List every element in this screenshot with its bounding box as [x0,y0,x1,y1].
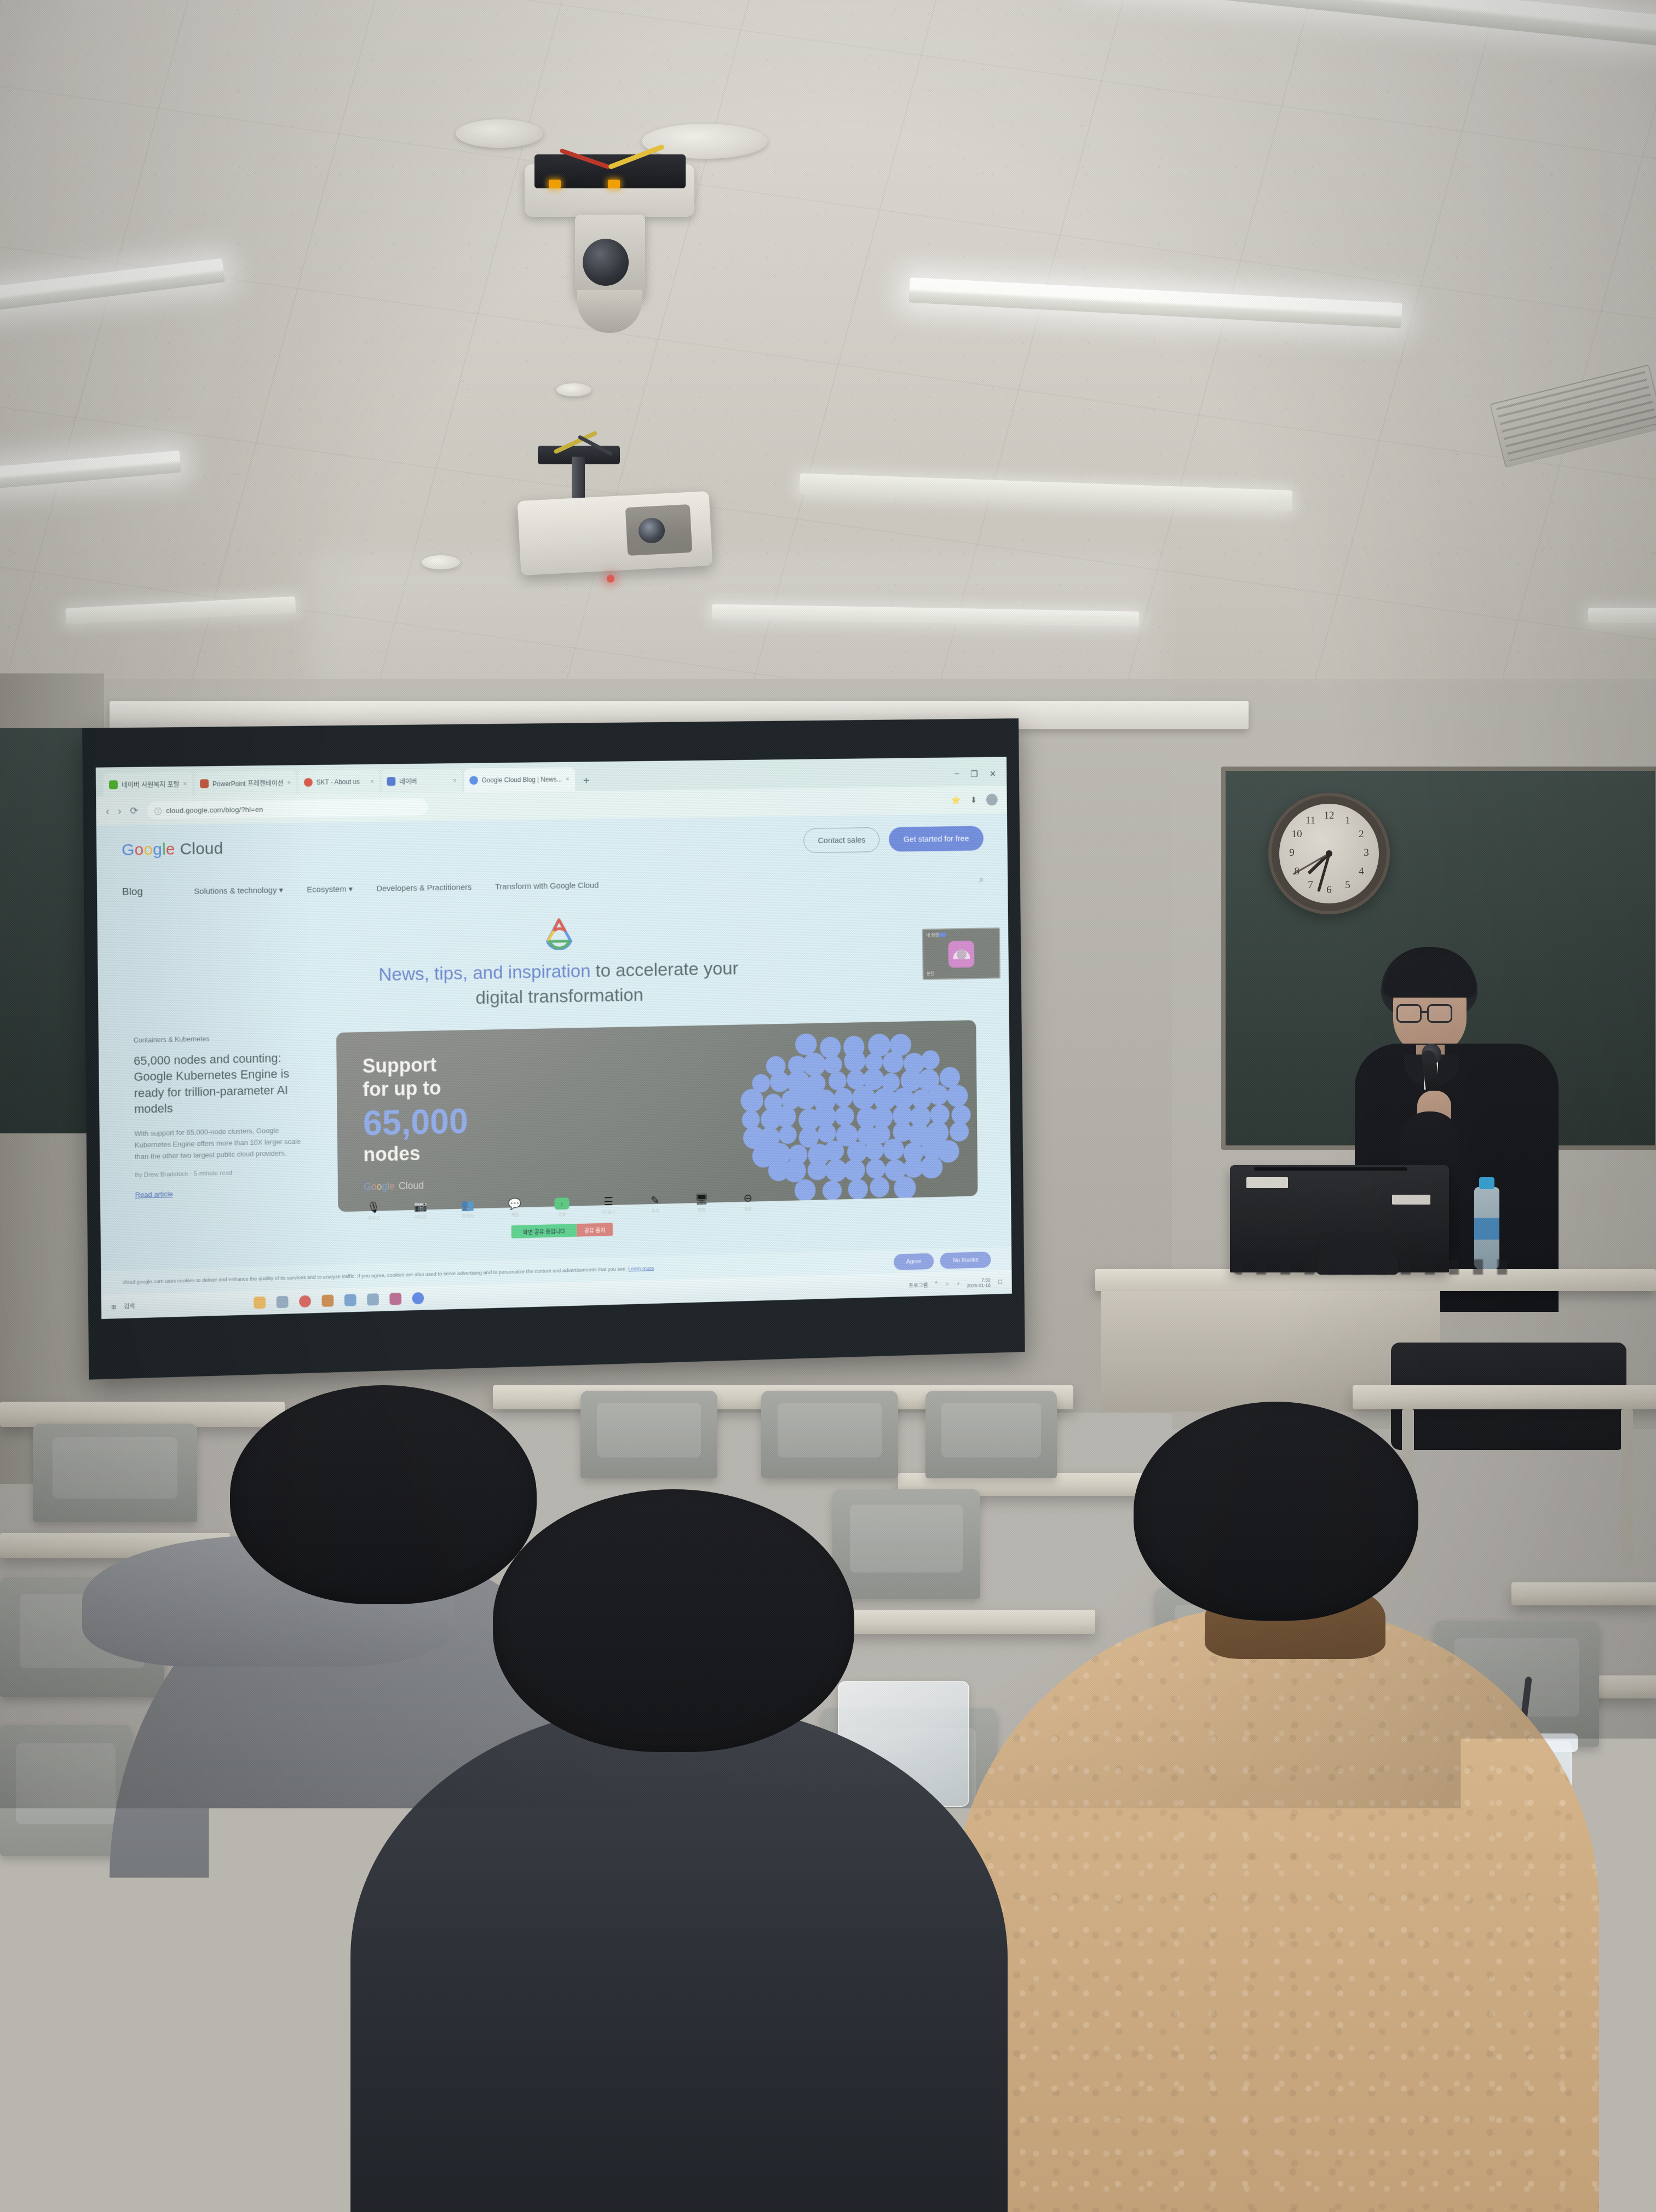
bottle-label [1474,1218,1499,1240]
projector-indicator-light [607,575,614,583]
back-icon[interactable]: ‹ [106,805,109,817]
node-dot [741,1089,763,1113]
ceiling-light [1588,608,1656,623]
clock-numeral: 11 [1304,815,1317,827]
student-chair [832,1489,980,1599]
node-dot [920,1156,942,1179]
browser-tab[interactable]: 네이버 × [382,769,462,793]
presenter-hair-front [1383,959,1476,998]
clock-numeral: 6 [1323,884,1336,896]
node-dot [775,1106,796,1128]
node-dot [894,1176,916,1200]
node-dot [818,1124,836,1143]
laptop-vent [1254,1167,1407,1171]
tray-volume-icon[interactable]: ♪ [957,1281,959,1287]
logo-letter: o [134,840,143,859]
student-chair [761,1391,898,1478]
toolbar-label: 더 보기 [602,1209,616,1216]
node-dot [883,1139,904,1161]
article-summary: With support for 65,000-node clusters, G… [134,1124,314,1162]
search-icon[interactable]: ⌕ [979,874,984,885]
clock-numeral: 4 [1355,866,1368,878]
toolbar-participants-button[interactable]: 👥 참여자 [453,1200,482,1219]
taskbar-search[interactable]: 검색 [124,1301,135,1311]
taskbar-system-tray: 프로그램 ^ ☼ ♪ 7:32 2025-01-16 ☐ [909,1277,1003,1291]
browser-tab[interactable]: SKT - About us × [298,770,380,794]
glasses-bridge [1422,1011,1428,1013]
logo-letter: e [166,840,175,859]
toolbar-label: 공유 [558,1212,566,1218]
tab-close-icon[interactable]: × [183,780,187,788]
taskbar-left: ⊞ 검색 [111,1301,135,1311]
cookie-agree-button[interactable]: Agree [894,1253,934,1270]
laptop-sticker [1392,1195,1430,1205]
toolbar-label: 참여자 [462,1213,474,1219]
node-dot [824,1055,842,1074]
clock-numeral: 7 [1304,879,1317,891]
lecture-hall-scene: 네이버 사원복지 포털 × PowerPoint 프레젠테이션 × SKT - … [0,0,1656,2208]
cookie-buttons: Agree No thanks [894,1252,991,1270]
card-line1: Support [363,1051,534,1078]
annotate-icon: ✎ [651,1195,659,1206]
student-chair [925,1391,1057,1478]
drive-icon[interactable] [344,1294,357,1306]
clock-face: 121234567891011 [1279,804,1379,903]
audience-member-left-head [230,1385,537,1604]
tab-label: PowerPoint 프레젠테이션 [212,778,284,788]
clock-numeral: 10 [1290,828,1303,840]
node-dot [779,1125,797,1144]
chrome-icon[interactable] [299,1295,311,1307]
microphone-icon: 🎙 [367,1202,381,1213]
glasses-right-lens [1427,1004,1452,1023]
glasses-left-lens [1396,1004,1422,1023]
projector-screen: 네이버 사원복지 포털 × PowerPoint 프레젠테이션 × SKT - … [82,718,1025,1380]
clock-numeral: 5 [1341,879,1354,891]
logo-letter: g [153,840,162,859]
logo-letter: G [364,1181,371,1192]
card-line3: nodes [363,1139,534,1166]
tile-status-indicator [939,932,946,937]
tray-network-icon[interactable]: ☼ [945,1281,950,1287]
student-desk [1511,1582,1656,1605]
chat-icon: 💬 [508,1199,521,1209]
stop-sharing-button[interactable]: 공유 중지 [577,1223,613,1236]
node-dot [848,1179,869,1200]
clock-numeral: 12 [1323,810,1336,822]
camera-lens [583,239,629,286]
laptop-sticker [1246,1177,1288,1188]
hero-line2: digital transformation [475,984,643,1008]
ceiling-speaker [422,555,460,569]
share-screen-icon: ↑ [554,1197,569,1209]
nav-item-transform[interactable]: Transform with Google Cloud [495,880,599,891]
node-dot [823,1180,842,1201]
tray-chevron-icon[interactable]: ^ [935,1281,938,1287]
tab-favicon [387,777,395,786]
node-dot [833,1087,853,1108]
card-text: Support for up to 65,000 nodes [363,1051,535,1166]
hero-accent-text: News, tips, and inspiration [378,961,591,985]
browser-tab[interactable]: PowerPoint 프레젠테이션 × [194,770,296,796]
logo-letter: o [371,1181,377,1192]
fleece-texture [953,1604,1599,2212]
toolbar-label: 화면 [698,1207,705,1213]
card-line2: for up to [363,1074,534,1101]
clock-date: 2025-01-16 [967,1282,991,1288]
nav-item-developers[interactable]: Developers & Practitioners [376,883,472,893]
cookie-decline-button[interactable]: No thanks [940,1252,991,1269]
toolbar-annotate-button[interactable]: ✎ 주석 [641,1195,669,1215]
clock-center-pin [1326,850,1332,857]
google-cloud-blog-page: GoogleCloud Contact sales Get started fo… [96,813,1012,1319]
camera-led [608,180,620,188]
node-dot [950,1121,969,1142]
desk-cables [1232,1259,1517,1275]
toolbar-share-button[interactable]: ↑ 공유 [548,1197,577,1218]
logo-letter: e [389,1180,395,1191]
reload-icon[interactable]: ⟳ [130,805,138,816]
node-dot [928,1085,948,1105]
logo-letter: o [143,840,153,859]
browser-tab-active[interactable]: Google Cloud Blog | News... × [464,767,574,792]
url-input[interactable]: ⓘ cloud.google.com/blog/?hl=en [147,798,428,819]
header-actions: Contact sales Get started for free [803,826,984,853]
node-dot [853,1086,876,1109]
tab-close-icon[interactable]: × [566,775,570,783]
camera-led [549,180,561,188]
google-cloud-mark-icon [542,916,576,950]
start-button-icon[interactable]: ⊞ [111,1303,116,1310]
ceiling-speaker [456,119,543,148]
article-category[interactable]: Containers & Kubernetes [134,1033,313,1044]
article-byline: By Drew Bradstock · 5-minute read [135,1168,314,1179]
explorer-icon[interactable] [277,1296,289,1308]
ceiling-speaker [642,124,768,159]
tab-favicon [469,776,478,785]
zoom-icon[interactable] [412,1292,424,1304]
avatar [948,941,974,968]
hero-section: News, tips, and inspiration to accelerat… [97,895,1009,1023]
bottle-cap [1479,1177,1494,1189]
node-dot [795,1033,817,1055]
toolbar-more-button[interactable]: ☰ 더 보기 [594,1196,623,1216]
audience-member-right-head [1134,1402,1418,1621]
node-dot [808,1160,827,1180]
tab-label: SKT - About us [317,778,360,786]
browser-tab[interactable]: 네이버 사원복지 포털 × [104,772,193,797]
logo-suffix: Cloud [399,1180,424,1191]
student-desk [1353,1385,1656,1409]
screen-share-status-bar: 화면 공유 중입니다 공유 중지 [511,1223,613,1238]
audience-member-center-body [350,1703,1008,2212]
wall-clock: 121234567891011 [1268,793,1390,914]
cookie-learn-more-link[interactable]: Learn more [628,1265,654,1272]
toolbar-label: 채팅 [511,1212,519,1218]
toolbar-screen-button[interactable]: 🖥 화면 [687,1194,716,1214]
more-options-icon: ☰ [603,1196,613,1207]
avatar-head [956,949,966,959]
contact-sales-button[interactable]: Contact sales [803,827,879,853]
node-dot [947,1085,968,1107]
tab-close-icon[interactable]: × [453,777,457,785]
sharing-status: 화면 공유 중입니다 [511,1224,577,1239]
toolbar-label: 주석 [651,1208,659,1214]
toolbar-chat-button[interactable]: 💬 채팅 [501,1199,530,1218]
node-dot [824,1140,844,1161]
article-title[interactable]: 65,000 nodes and counting: Google Kubern… [134,1050,313,1117]
downloads-icon[interactable]: ⬇ [970,795,977,805]
toolbar-label: 비디오 [415,1214,427,1220]
notifications-icon[interactable]: ☐ [998,1279,1003,1285]
tab-close-icon[interactable]: × [370,778,374,786]
tray-program-label[interactable]: 프로그램 [909,1280,928,1289]
featured-article-card[interactable]: Support for up to 65,000 nodes GoogleClo… [336,1020,978,1212]
tab-label: 네이버 [399,776,417,786]
screen-icon: 🖥 [695,1194,709,1205]
card-google-cloud-logo: GoogleCloud [364,1180,424,1193]
node-dot [795,1179,816,1202]
profile-avatar[interactable] [986,794,998,806]
logo-letter: o [377,1181,382,1192]
tab-label: 네이버 사원복지 포털 [122,779,180,789]
node-dot [835,1106,854,1126]
maximize-icon[interactable]: ❐ [970,769,978,780]
window-controls: – ❐ ✕ [944,769,1007,787]
toolbar-mic-button[interactable]: 🎙 마이크 [359,1202,388,1222]
browser-toolbar-right: ⭐ ⬇ [951,794,998,807]
node-dot [883,1051,904,1073]
slack-icon[interactable] [389,1293,401,1305]
minimize-icon[interactable]: – [955,769,959,780]
stop-sharing-text: 공유 중지 [584,1225,606,1234]
desk-leg [1621,1409,1633,1568]
projected-browser-window: 네이버 사원복지 포털 × PowerPoint 프레젠테이션 × SKT - … [96,757,1012,1319]
node-dot [865,1140,884,1160]
node-dot [844,1050,865,1073]
nav-item-ecosystem[interactable]: Ecosystem ▾ [307,884,353,895]
toolbar-leave-button[interactable]: ⊖ 종료 [734,1193,762,1212]
node-dot [802,1052,825,1076]
toolbar-label: 마이크 [367,1215,380,1221]
word-icon[interactable] [321,1294,334,1306]
get-started-button[interactable]: Get started for free [889,826,984,851]
node-dot [870,1177,890,1197]
google-cloud-logo[interactable]: GoogleCloud [122,839,223,860]
student-chair [33,1424,197,1522]
tab-favicon [200,779,209,788]
participants-icon: 👥 [461,1200,475,1211]
toolbar-label: 종료 [744,1206,752,1212]
toolbar-camera-button[interactable]: 📷 비디오 [406,1201,435,1220]
clock-numeral: 8 [1290,866,1303,878]
tab-close-icon[interactable]: × [287,779,291,786]
tab-favicon [109,780,118,789]
leave-call-icon: ⊖ [744,1193,752,1204]
node-dot [921,1050,940,1069]
tile-participant-name: 본인 [927,971,934,977]
hero-rest-text: to accelerate your [590,958,738,981]
node-dot [866,1159,885,1179]
node-cluster-graphic [744,1031,965,1196]
sharing-status-text: 화면 공유 중입니다 [523,1226,565,1236]
url-text: cloud.google.com/blog/?hl=en [166,805,263,814]
taskbar-clock[interactable]: 7:32 2025-01-16 [967,1277,991,1288]
student-chair [580,1391,717,1478]
audience-member-right-body [953,1604,1599,2212]
clock-numeral: 3 [1360,847,1373,859]
camera-icon: 📷 [414,1201,428,1212]
notes-icon[interactable] [367,1293,379,1305]
node-dot [937,1140,959,1163]
nav-item-solutions[interactable]: Solutions & technology ▾ [194,885,283,896]
tile-corner-tag: 내 화면 [926,932,939,938]
node-dot [844,1159,865,1182]
ceiling-speaker [556,383,591,396]
clock-numeral: 2 [1355,828,1368,840]
clock-numeral: 1 [1341,815,1354,827]
clock-time: 7:32 [981,1277,991,1283]
featured-article: Containers & Kubernetes 65,000 nodes and… [134,1033,314,1217]
tab-favicon [304,778,313,787]
video-call-participant-tile[interactable]: 내 화면 본인 [922,928,1001,980]
card-big-number: 65,000 [363,1101,535,1143]
node-dot [783,1159,806,1183]
bookmark-icon[interactable]: ⭐ [951,795,961,805]
forward-icon[interactable]: › [118,805,121,817]
read-article-link[interactable]: Read article [135,1186,314,1199]
featured-content: Containers & Kubernetes 65,000 nodes and… [99,1006,1011,1218]
site-info-icon[interactable]: ⓘ [154,805,162,816]
clock-numeral: 9 [1285,847,1298,859]
logo-suffix: Cloud [180,839,223,858]
nav-brand-blog[interactable]: Blog [122,886,143,898]
logo-letter: G [122,841,135,859]
water-bottle [1474,1187,1499,1269]
taskbar-pinned-apps [254,1292,424,1309]
tab-label: Google Cloud Blog | News... [482,775,562,784]
logo-letter: g [382,1181,387,1192]
close-icon[interactable]: ✕ [990,769,997,780]
copilot-icon[interactable] [254,1297,266,1309]
new-tab-button[interactable]: + [577,775,596,791]
audience-member-center-head [493,1489,854,1752]
